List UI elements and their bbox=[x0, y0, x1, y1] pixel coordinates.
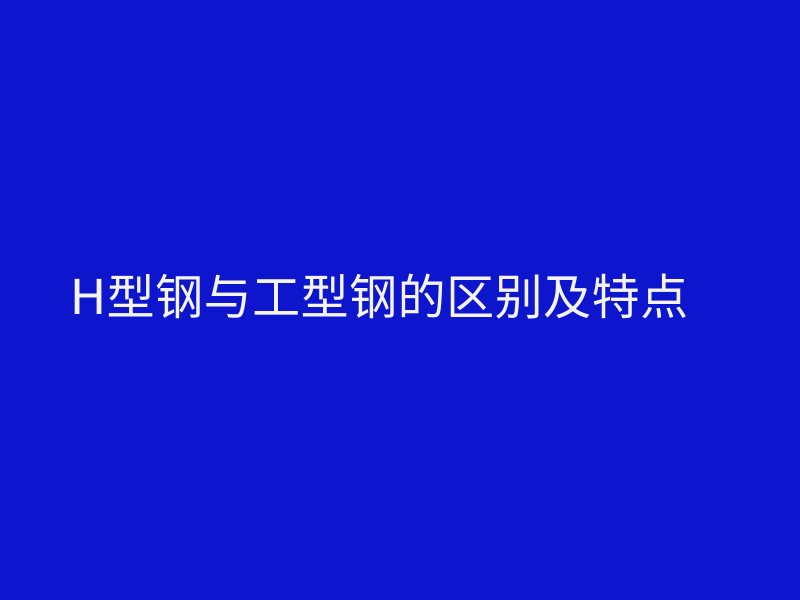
page-title: H型钢与工型钢的区别及特点 bbox=[0, 270, 689, 327]
title-card: H型钢与工型钢的区别及特点 bbox=[0, 0, 800, 600]
